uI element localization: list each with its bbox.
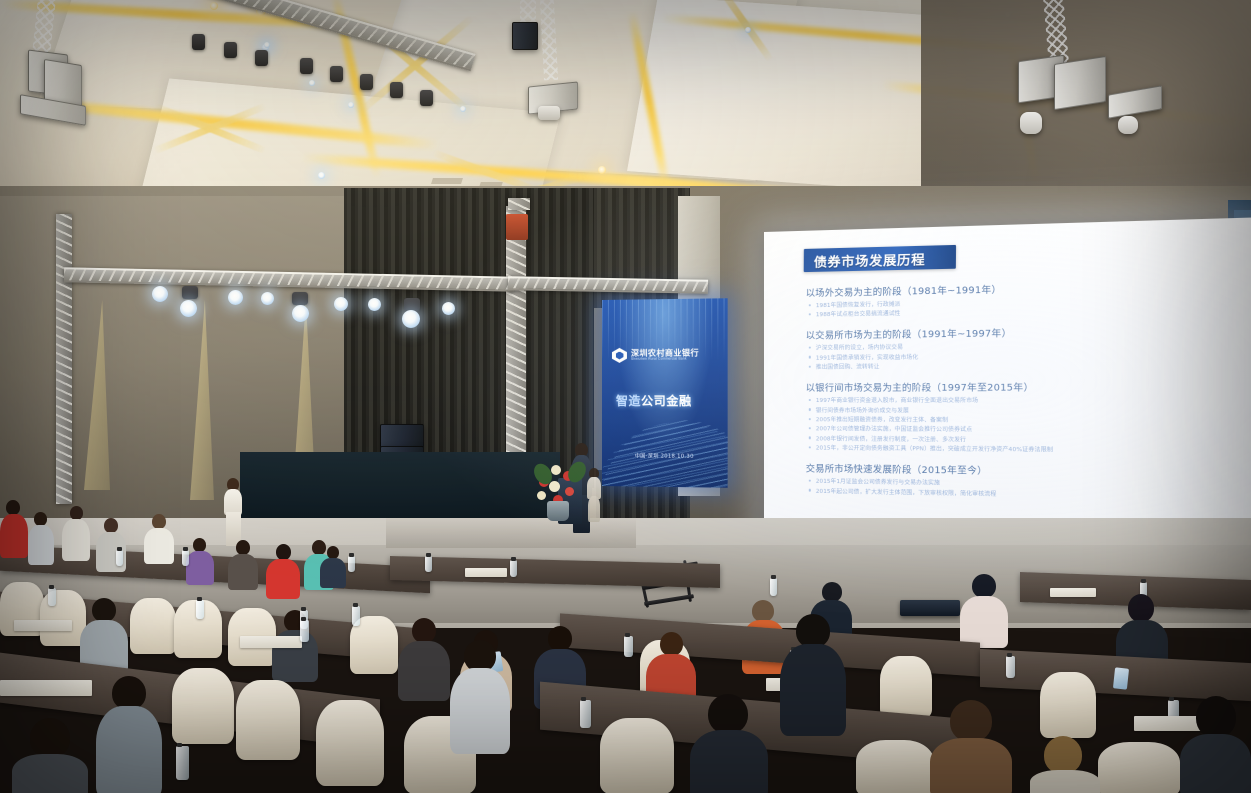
slide-section: 以场外交易为主的阶段（1981年~1991年） 1981年国债恢复发行，行政摊派… [806,276,1246,319]
standing-attendant [585,468,603,522]
banquet-chair [1040,672,1096,738]
slide-section-heading: 以银行间市场交易为主的阶段（1997年至2015年） [806,378,1246,394]
water-bottle [348,556,355,572]
stage-light [368,298,381,311]
stage-light [180,300,197,317]
stage-light [402,310,420,328]
hoisted-speaker-cabinet [512,22,538,50]
water-bottle [48,588,56,606]
audience-member [144,514,174,562]
standing-attendant [221,478,245,546]
audience-member [450,640,510,750]
moving-head-light [404,298,420,311]
water-bottle [182,550,189,566]
audience-member [80,598,128,668]
ceiling-downlight [264,42,270,48]
audience-member [1180,696,1251,793]
notepad [14,620,72,631]
water-bottle [176,746,189,780]
slide-bullet: 1997年商业银行资金退入股市，商业银行全面退出交易所市场 [816,396,1246,405]
smartphone[interactable] [1113,667,1129,689]
flower-vase [547,501,569,521]
banquet-chair [880,656,932,718]
audience-member [1030,736,1100,793]
moving-head-light [360,74,373,90]
moving-head-light [182,286,198,299]
banquet-chair [130,598,176,654]
water-bottle [770,578,777,596]
slide-bullet-list: 2015年1月证监会公司债券发行与交易办法实施 2015年起公司债，扩大发行主体… [806,477,1246,502]
audience-member [96,676,162,793]
ceiling-downlight [318,172,325,179]
bank-name-en: Shenzhen Rural Commercial Bank [631,357,699,361]
audience-member [12,718,88,793]
slide-section: 以银行间市场交易为主的阶段（1997年至2015年） 1997年商业银行资金退入… [806,378,1246,455]
slide-section-heading: 以交易所市场为主的阶段（1991年~1997年） [806,322,1246,342]
notepad [1050,588,1096,597]
audience-member [930,700,1012,793]
truss-tower [56,214,72,504]
stage-floor-monitor [900,600,960,616]
stage-light [442,302,455,315]
event-theme-highlight: 智造 [616,394,641,408]
stair-step [644,594,694,606]
ceiling-downlight [745,27,751,33]
flower [551,465,561,475]
audience-member [228,540,258,586]
event-theme: 智造公司金融 [616,392,717,409]
water-bottle [510,560,517,577]
banquet-chair [172,668,234,744]
stage-light [228,290,243,305]
truss-hoist-motor [506,214,528,240]
bank-logo-mark-icon [612,348,627,363]
flower [549,481,560,492]
slide-section: 以交易所市场为主的阶段（1991年~1997年） 沪深交易所的设立，场内协议交易… [806,322,1246,371]
stage-light [261,292,274,305]
stage-riser [386,518,636,548]
water-bottle [1006,656,1015,678]
audience-member [28,512,54,562]
audience-member [780,614,846,734]
led-wave-graphic [602,409,728,488]
moving-head-light [390,82,403,98]
banquet-chair [600,718,674,793]
slide-bullet-list: 沪深交易所的设立，场内协议交易 1991年国债承销发行，实现收益市场化 推出国债… [806,340,1246,371]
stage-led-banner[interactable]: 深圳农村商业银行 Shenzhen Rural Commercial Bank … [602,298,728,488]
slide-bullet: 2015年，非公开定向债务融资工具（PPN）推出，突破成立开发行净资产40%证券… [816,444,1246,456]
ceiling-downlight [348,102,354,108]
ceiling-downlight [460,106,466,112]
moving-head-light [224,42,237,58]
hoisted-speaker-cabinet [1054,56,1106,110]
notepad [240,636,302,648]
stage-speaker-cabinet [380,424,424,448]
slide-body: 以场外交易为主的阶段（1981年~1991年） 1981年国债恢复发行，行政摊派… [806,276,1246,501]
moving-head-light [330,66,343,82]
audience-member [690,694,768,793]
water-bottle [116,550,123,566]
bank-logo-text: 深圳农村商业银行 Shenzhen Rural Commercial Bank [631,349,699,361]
banquet-chair [316,700,384,786]
stage-light [334,297,348,311]
slide-bullet: 2005年推出短期融资债券，改变发行主体、备案制 [816,415,1246,425]
water-bottle [352,606,360,626]
moving-head-light [192,34,205,50]
water-bottle [196,600,204,619]
flower [537,491,546,500]
banquet-chair [1098,742,1180,793]
slide-title-bar: 债券市场发展历程 [804,245,956,272]
truss-tower-cap [508,198,530,210]
ceiling-camera [538,106,560,120]
floral-arrangement [535,455,591,515]
event-location-date: 中国·深圳 2018.10.30 [602,452,728,460]
banquet-chair [236,680,300,760]
notepad [0,680,92,696]
flower [565,487,574,496]
event-theme-rest: 公司金融 [641,394,692,408]
stage-light [152,286,168,302]
slide-title: 债券市场发展历程 [814,249,926,271]
banquet-chair [856,740,934,793]
water-bottle [300,620,309,642]
slide-bullet: 银行间债券市场场外询价成交与发展 [816,406,1246,415]
audience-member [0,500,28,556]
notepad [465,568,507,577]
stage-light [292,305,309,322]
audience-member [62,506,90,560]
truss-tower [506,206,526,461]
moving-head-light [300,58,313,74]
moving-head-light [292,292,308,305]
audience-member [186,538,214,582]
audience-member [960,574,1008,642]
ceiling-vent [431,178,463,184]
slide-section: 交易所市场快速发展阶段（2015年至今） 2015年1月证监会公司债券发行与交易… [806,461,1246,502]
ceiling-downlight [309,80,315,86]
bank-logo: 深圳农村商业银行 Shenzhen Rural Commercial Bank [612,347,717,363]
water-bottle [425,556,432,572]
conference-hall-photo: 债券市场发展历程 以场外交易为主的阶段（1981年~1991年） 1981年国债… [0,0,1251,793]
moving-head-light [420,90,433,106]
audience-member [398,618,450,694]
slide-bullet-list: 1997年商业银行资金退入股市，商业银行全面退出交易所市场 银行间债券市场场外询… [806,396,1246,456]
ceiling-camera [1020,112,1042,134]
water-bottle [580,700,591,728]
audience-member [266,544,300,596]
ceiling-downlight [598,166,606,174]
slide-bullet: 推出国债回购、流转转让 [816,360,1246,371]
attendant-skirt [588,496,600,522]
ceiling-camera [1118,116,1138,134]
moving-head-light [255,50,268,66]
audience-member [320,546,346,586]
ceiling-downlight [210,2,218,10]
water-bottle [624,636,633,657]
